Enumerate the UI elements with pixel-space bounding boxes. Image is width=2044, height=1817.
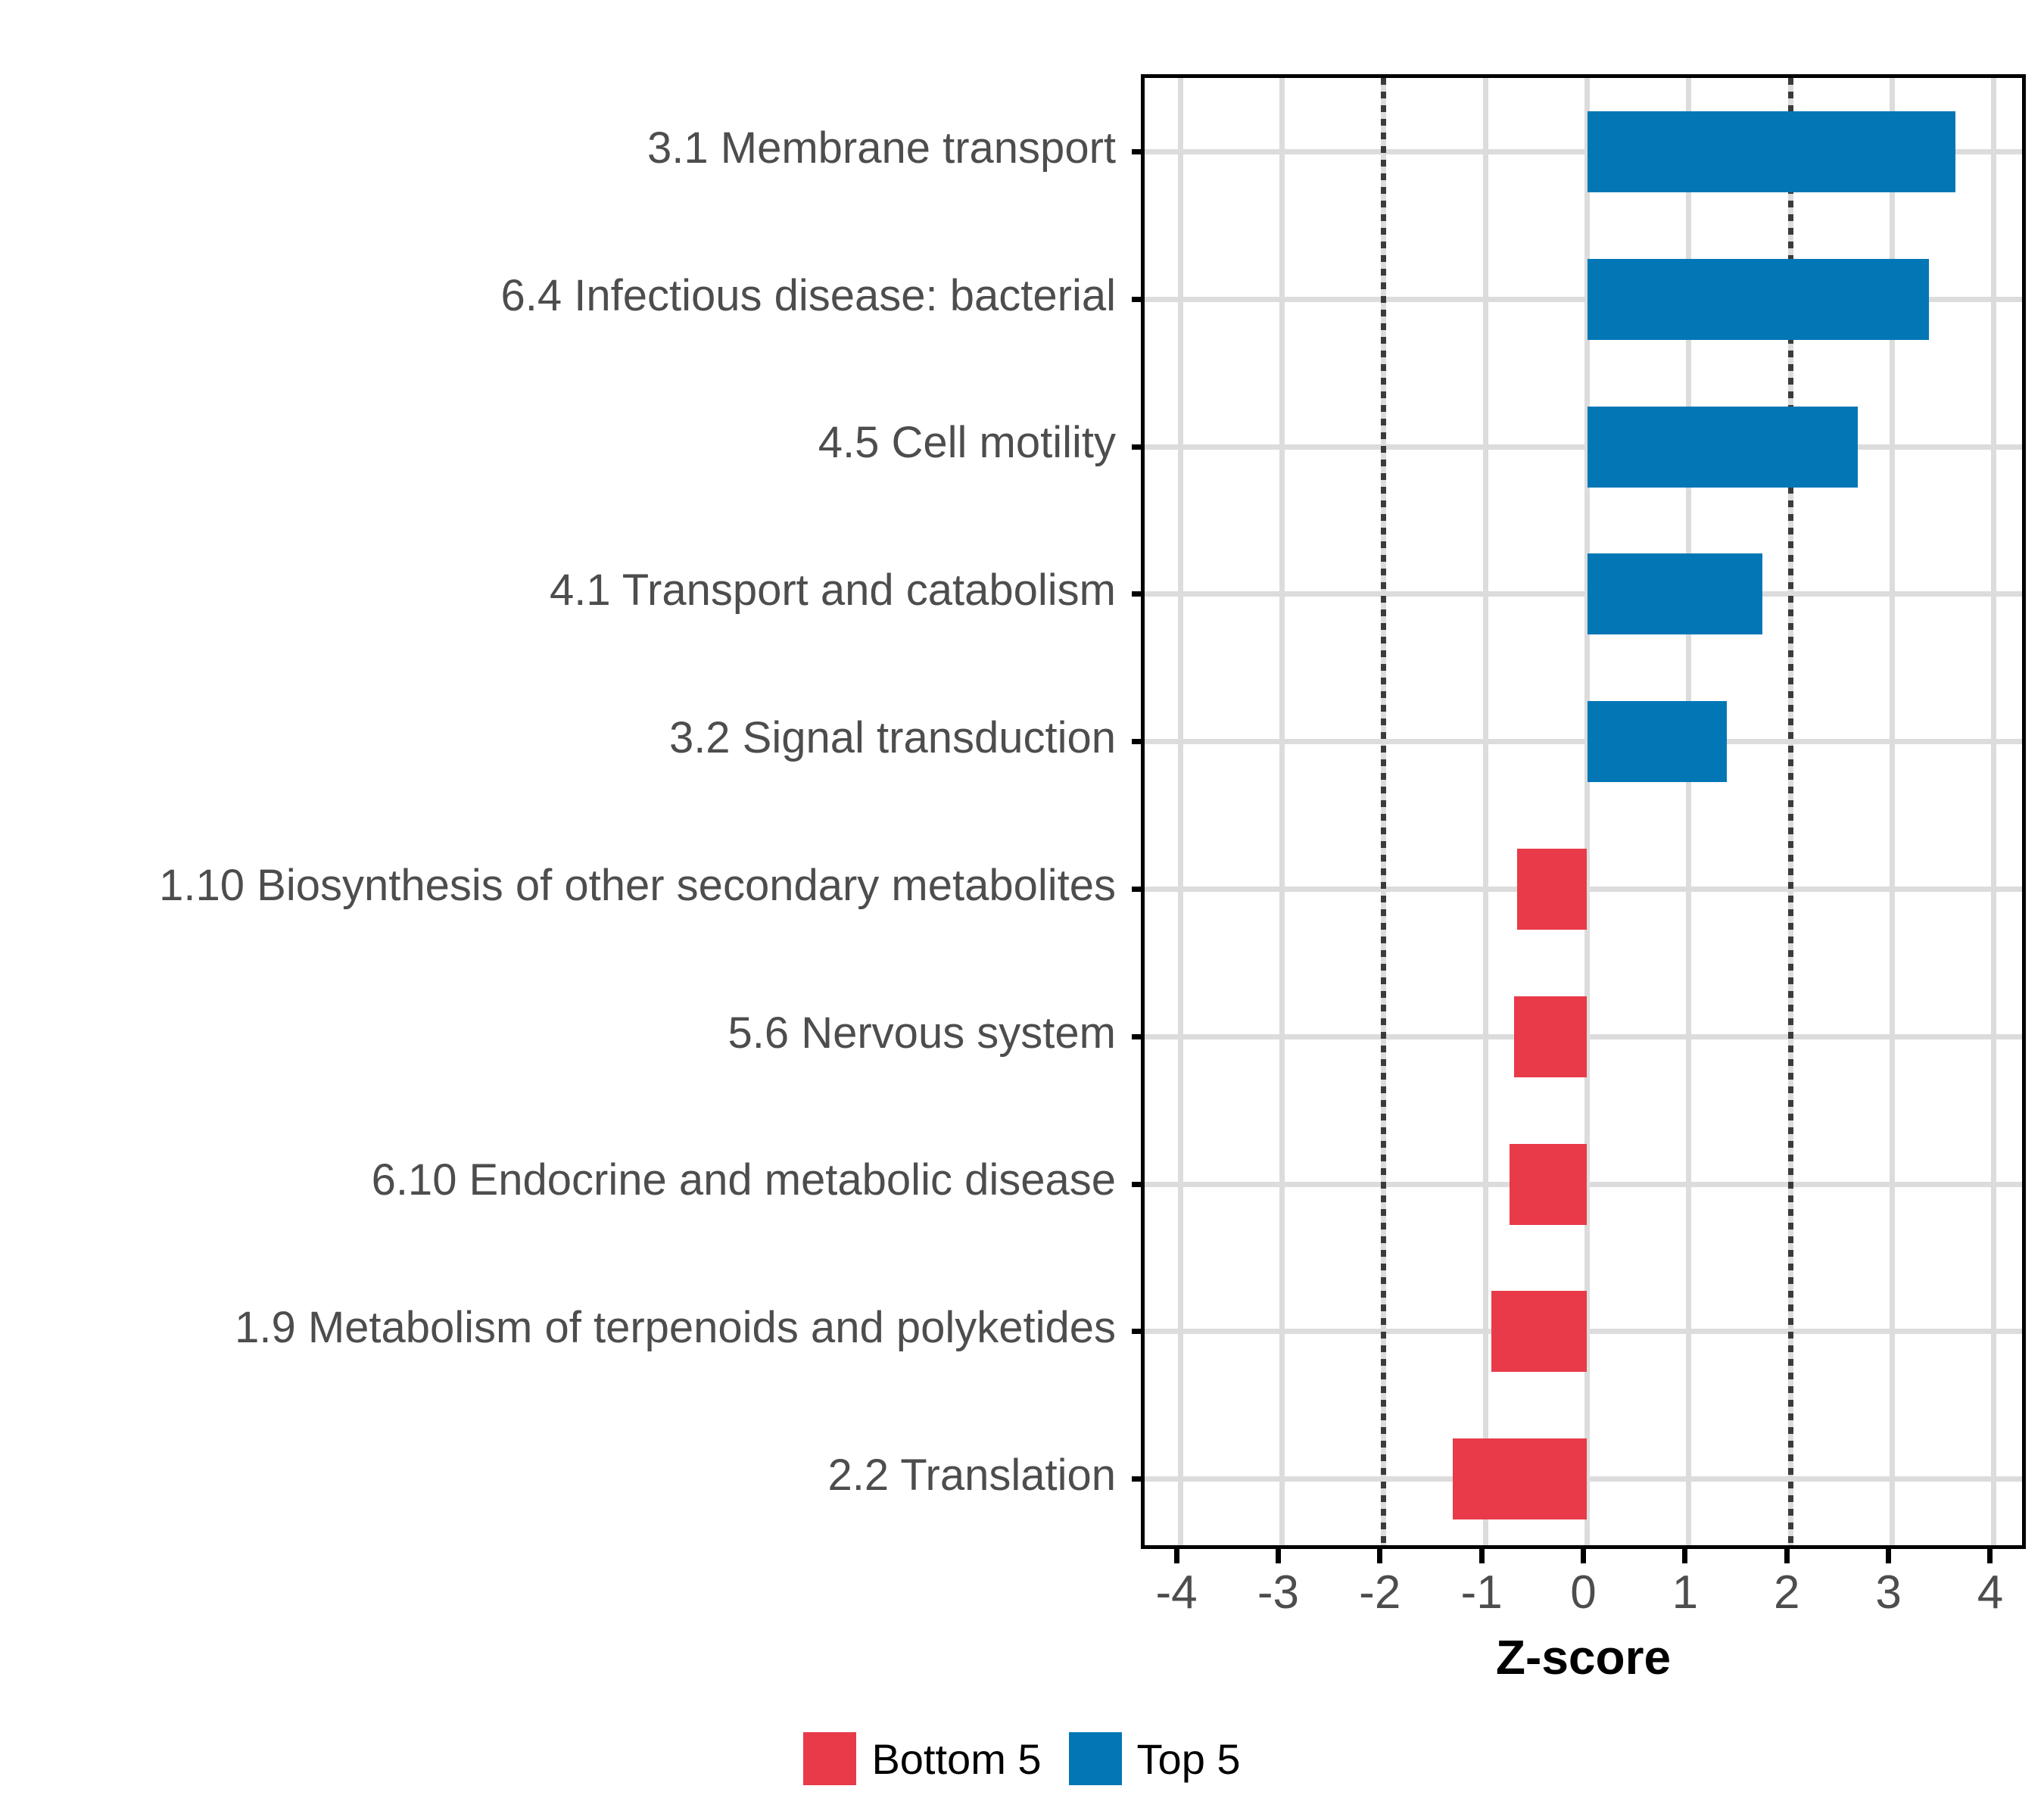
legend-item: Bottom 5	[803, 1732, 1041, 1785]
y-axis-label: 1.9 Metabolism of terpenoids and polyket…	[0, 1254, 1128, 1401]
y-axis-tick	[1132, 149, 1145, 154]
reference-line	[1381, 78, 1386, 1545]
y-axis-label-text: 1.10 Biosynthesis of other secondary met…	[159, 860, 1128, 911]
x-axis-tick-label: -3	[1257, 1566, 1299, 1619]
y-axis-tick	[1132, 1034, 1145, 1039]
x-axis-tick-label: -4	[1155, 1566, 1197, 1619]
plot-area	[1145, 78, 2022, 1545]
y-axis-tick	[1132, 297, 1145, 302]
y-axis-label-text: 6.4 Infectious disease: bacterial	[501, 270, 1128, 321]
legend-swatch	[1069, 1732, 1122, 1785]
y-axis-label: 2.2 Translation	[0, 1401, 1128, 1549]
bar	[1588, 701, 1727, 782]
horizontal-gridline	[1145, 739, 2022, 744]
y-axis-label: 6.4 Infectious disease: bacterial	[0, 222, 1128, 369]
chart-page: 3.1 Membrane transport6.4 Infectious dis…	[0, 0, 2044, 1817]
y-axis-tick	[1132, 444, 1145, 450]
y-axis-label-text: 4.1 Transport and catabolism	[550, 565, 1128, 616]
y-axis-tick	[1132, 591, 1145, 597]
y-axis-label: 3.2 Signal transduction	[0, 664, 1128, 812]
x-axis-tick-labels: -4-3-2-101234	[1141, 1566, 2026, 1626]
x-axis-tick	[1174, 1549, 1179, 1563]
x-axis-tick-label: 1	[1672, 1566, 1698, 1619]
y-axis-label-text: 2.2 Translation	[828, 1450, 1128, 1501]
bar	[1453, 1438, 1587, 1519]
legend-label: Bottom 5	[871, 1734, 1041, 1784]
bar	[1588, 111, 1955, 192]
bar	[1588, 407, 1858, 488]
legend-item: Top 5	[1069, 1732, 1241, 1785]
plot-panel	[1141, 74, 2026, 1549]
y-axis-tick	[1132, 1476, 1145, 1482]
y-axis-tick	[1132, 887, 1145, 892]
x-axis-tick	[1682, 1549, 1687, 1563]
x-axis-tick	[1276, 1549, 1281, 1563]
x-axis-tick	[1987, 1549, 1993, 1563]
y-axis-label: 1.10 Biosynthesis of other secondary met…	[0, 812, 1128, 959]
x-axis-title: Z-score	[1141, 1629, 2026, 1685]
x-axis-tick	[1479, 1549, 1485, 1563]
bar	[1510, 1144, 1587, 1225]
y-axis-label: 4.1 Transport and catabolism	[0, 516, 1128, 664]
y-axis-label: 3.1 Membrane transport	[0, 74, 1128, 222]
bar	[1588, 259, 1929, 340]
y-axis-tick	[1132, 1182, 1145, 1187]
x-axis-tick-label: 4	[1977, 1566, 2003, 1619]
bar	[1514, 996, 1588, 1077]
y-axis-label: 5.6 Nervous system	[0, 959, 1128, 1107]
x-axis-tick-label: -2	[1359, 1566, 1401, 1619]
bar	[1491, 1291, 1587, 1372]
y-axis-label-text: 1.9 Metabolism of terpenoids and polyket…	[235, 1302, 1128, 1353]
y-axis-label: 6.10 Endocrine and metabolic disease	[0, 1107, 1128, 1254]
bar	[1517, 849, 1588, 930]
bar	[1588, 553, 1762, 634]
horizontal-gridline	[1145, 444, 2022, 450]
y-axis-label-text: 3.2 Signal transduction	[669, 712, 1128, 763]
legend-label: Top 5	[1137, 1734, 1241, 1784]
y-axis-label-text: 4.5 Cell motility	[818, 417, 1128, 468]
legend: Bottom 5Top 5	[0, 1732, 2044, 1785]
y-axis-label-text: 5.6 Nervous system	[728, 1008, 1128, 1058]
y-axis-category-labels: 3.1 Membrane transport6.4 Infectious dis…	[0, 74, 1128, 1549]
y-axis-tick	[1132, 739, 1145, 744]
x-axis-tick-label: -1	[1461, 1566, 1503, 1619]
y-axis-label-text: 6.10 Endocrine and metabolic disease	[372, 1155, 1128, 1205]
x-axis-tick	[1377, 1549, 1382, 1563]
x-axis-tick-label: 3	[1875, 1566, 1901, 1619]
x-axis-tick-label: 2	[1774, 1566, 1799, 1619]
x-axis-tick	[1784, 1549, 1790, 1563]
x-axis-tick-label: 0	[1570, 1566, 1596, 1619]
horizontal-gridline	[1145, 591, 2022, 597]
y-axis-label-text: 3.1 Membrane transport	[647, 123, 1128, 173]
x-axis-tick	[1886, 1549, 1891, 1563]
x-axis-tick	[1581, 1549, 1586, 1563]
x-axis-ticks	[1141, 1549, 2026, 1564]
y-axis-label: 4.5 Cell motility	[0, 369, 1128, 517]
y-axis-tick	[1132, 1329, 1145, 1334]
legend-swatch	[803, 1732, 856, 1785]
